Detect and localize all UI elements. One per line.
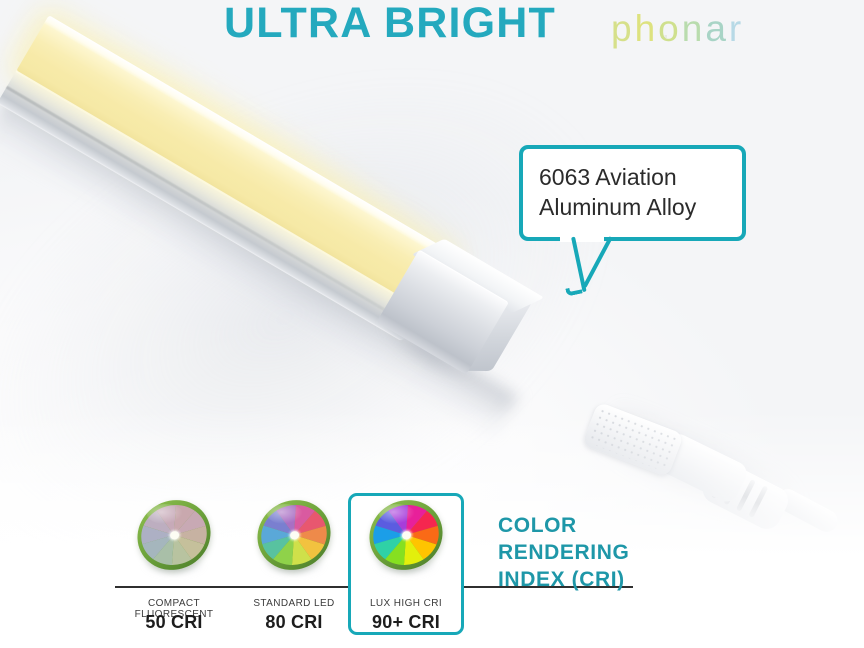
cri-value: 50 CRI: [118, 612, 230, 633]
cri-caption: STANDARD LED: [238, 598, 350, 609]
brand-logo: phonar ≡: [611, 3, 771, 55]
logo-letter: h: [635, 3, 659, 55]
lime-slice-medium-cri: [257, 498, 331, 572]
material-callout-bubble: 6063 Aviation Aluminum Alloy: [519, 145, 746, 241]
page-title: ULTRA BRIGHT: [190, 2, 590, 46]
logo-subtext: ≡: [655, 34, 677, 40]
cri-title-line-2: RENDERING: [498, 539, 728, 566]
cri-value: 80 CRI: [238, 612, 350, 633]
led-bar-rotated-group: [0, 10, 586, 454]
cri-column-standard-led: STANDARD LED 80 CRI: [238, 490, 350, 572]
logo-letter: a: [705, 3, 729, 55]
cri-title-line-3: INDEX (CRI): [498, 566, 728, 593]
cri-title-line-1: COLOR: [498, 512, 728, 539]
callout-tail-right-stroke: [582, 236, 612, 288]
lime-slice-low-cri: [137, 498, 211, 572]
cri-comparison-section: COMPACT FLUORESCENT 50 CRI STANDARD LED …: [110, 490, 750, 640]
logo-letter: r: [729, 3, 744, 55]
cri-caption: LUX HIGH CRI: [350, 598, 462, 609]
cri-column-lux-high-cri: LUX HIGH CRI 90+ CRI: [350, 490, 462, 572]
logo-letter: o: [658, 3, 682, 55]
product-image-canvas: ULTRA BRIGHT phonar ≡ 6063 Aviation Alum…: [0, 0, 864, 648]
callout-line-2: Aluminum Alloy: [539, 192, 732, 222]
logo-letter: n: [682, 3, 706, 55]
callout-tail: [559, 237, 629, 293]
brand-logo-wordmark: phonar: [611, 3, 744, 55]
lime-slice-high-cri: [369, 498, 443, 572]
logo-letter: p: [611, 3, 635, 55]
callout-text: 6063 Aviation Aluminum Alloy: [539, 162, 732, 222]
cri-column-compact-fluorescent: COMPACT FLUORESCENT 50 CRI: [118, 490, 230, 572]
cri-value: 90+ CRI: [350, 612, 462, 633]
cri-section-title: COLOR RENDERING INDEX (CRI): [498, 512, 728, 593]
callout-line-1: 6063 Aviation: [539, 162, 732, 192]
